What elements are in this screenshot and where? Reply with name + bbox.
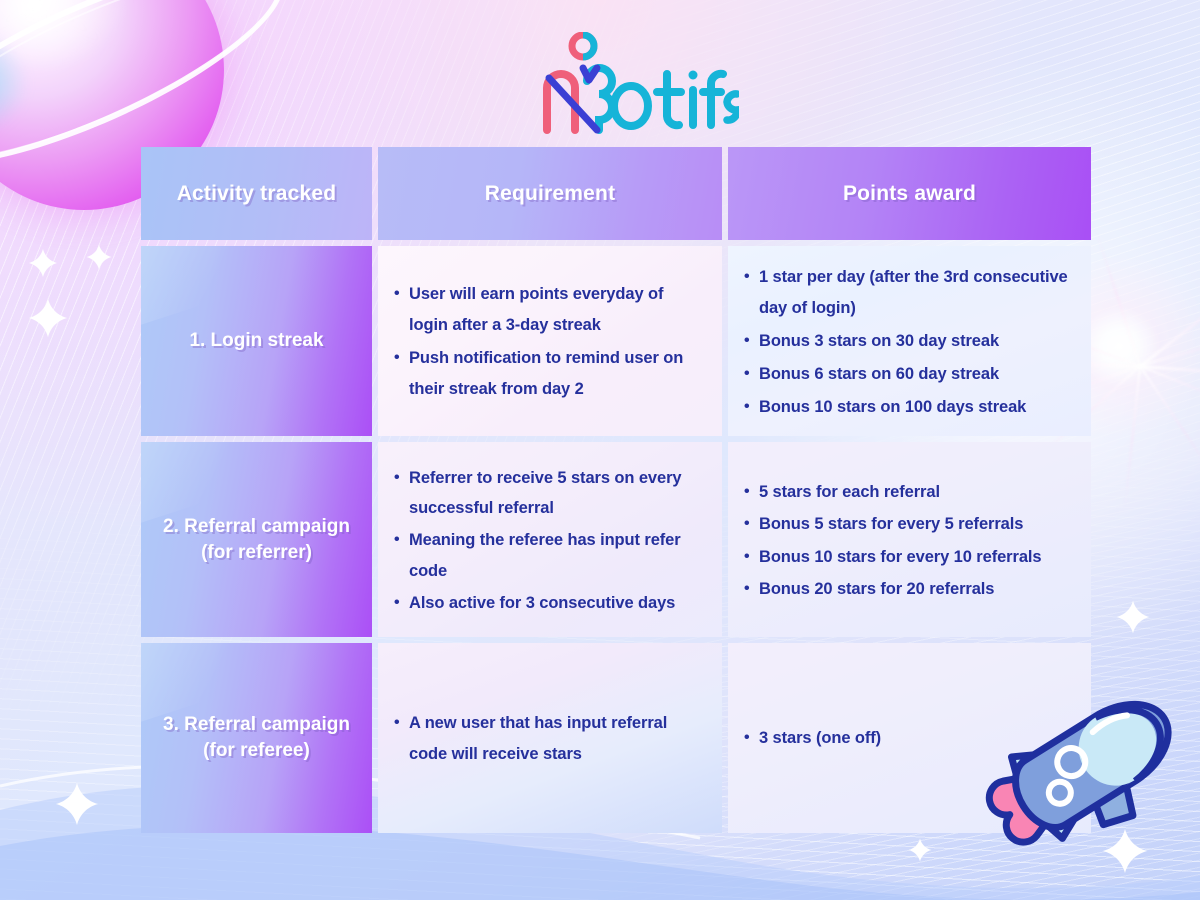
list-item: Also active for 3 consecutive days [394, 588, 702, 618]
notifs-logo [521, 32, 739, 138]
requirement-list: Referrer to receive 5 stars on every suc… [394, 463, 702, 621]
activity-label-referral-referee: 3. Referral campaign (for referee) [141, 643, 372, 833]
requirement-cell-referral-referrer: Referrer to receive 5 stars on every suc… [378, 442, 722, 637]
requirement-list: A new user that has input referral code … [394, 708, 702, 773]
table-row: 3. Referral campaign (for referee) A new… [141, 643, 1091, 833]
sparkle-icon [86, 244, 112, 270]
list-item: Bonus 10 stars for every 10 referrals [744, 542, 1071, 572]
list-item: Referrer to receive 5 stars on every suc… [394, 463, 702, 524]
points-table: Activity tracked Requirement Points awar… [141, 147, 1091, 833]
sparkle-icon [28, 298, 68, 338]
activity-label-text: 2. Referral campaign (for referrer) [151, 514, 362, 565]
requirement-list: User will earn points everyday of login … [394, 279, 702, 407]
column-header-requirement: Requirement [378, 147, 722, 240]
list-item: 1 star per day (after the 3rd consecutiv… [744, 262, 1071, 324]
column-header-label: Points award [843, 182, 976, 206]
list-item: Bonus 20 stars for 20 referrals [744, 574, 1071, 604]
activity-label-login-streak: 1. Login streak [141, 246, 372, 436]
points-list: 5 stars for each referral Bonus 5 stars … [744, 477, 1071, 606]
column-header-label: Requirement [485, 182, 616, 206]
points-cell-login-streak: 1 star per day (after the 3rd consecutiv… [728, 246, 1091, 436]
list-item: Bonus 3 stars on 30 day streak [744, 326, 1071, 357]
points-cell-referral-referrer: 5 stars for each referral Bonus 5 stars … [728, 442, 1091, 637]
sparkle-icon [908, 838, 932, 862]
activity-label-referral-referrer: 2. Referral campaign (for referrer) [141, 442, 372, 637]
points-cell-referral-referee: 3 stars (one off) [728, 643, 1091, 833]
table-row: 1. Login streak User will earn points ev… [141, 246, 1091, 436]
sparkle-icon [55, 782, 99, 826]
list-item: Bonus 10 stars on 100 days streak [744, 392, 1071, 423]
sparkle-icon [1116, 600, 1150, 634]
list-item: A new user that has input referral code … [394, 708, 702, 771]
planet-teal-glow [0, 28, 28, 138]
table-row: 2. Referral campaign (for referrer) Refe… [141, 442, 1091, 637]
points-list: 3 stars (one off) [744, 723, 1071, 756]
sparkle-icon [1102, 828, 1148, 874]
points-list: 1 star per day (after the 3rd consecutiv… [744, 262, 1071, 425]
list-item: Bonus 6 stars on 60 day streak [744, 359, 1071, 390]
column-header-activity: Activity tracked [141, 147, 372, 240]
table-header-row: Activity tracked Requirement Points awar… [141, 147, 1091, 240]
list-item: Bonus 5 stars for every 5 referrals [744, 509, 1071, 539]
column-header-points: Points award [728, 147, 1091, 240]
poster-canvas: Activity tracked Requirement Points awar… [0, 0, 1200, 900]
requirement-cell-referral-referee: A new user that has input referral code … [378, 643, 722, 833]
list-item: 3 stars (one off) [744, 723, 1071, 754]
activity-label-text: 1. Login streak [189, 328, 323, 354]
sparkle-icon [26, 246, 60, 280]
list-item: 5 stars for each referral [744, 477, 1071, 507]
planet-highlight [0, 0, 130, 74]
list-item: Meaning the referee has input refer code [394, 525, 702, 586]
list-item: User will earn points everyday of login … [394, 279, 702, 341]
requirement-cell-login-streak: User will earn points everyday of login … [378, 246, 722, 436]
activity-label-text: 3. Referral campaign (for referee) [151, 712, 362, 763]
column-header-label: Activity tracked [177, 182, 337, 206]
list-item: Push notification to remind user on thei… [394, 343, 702, 405]
